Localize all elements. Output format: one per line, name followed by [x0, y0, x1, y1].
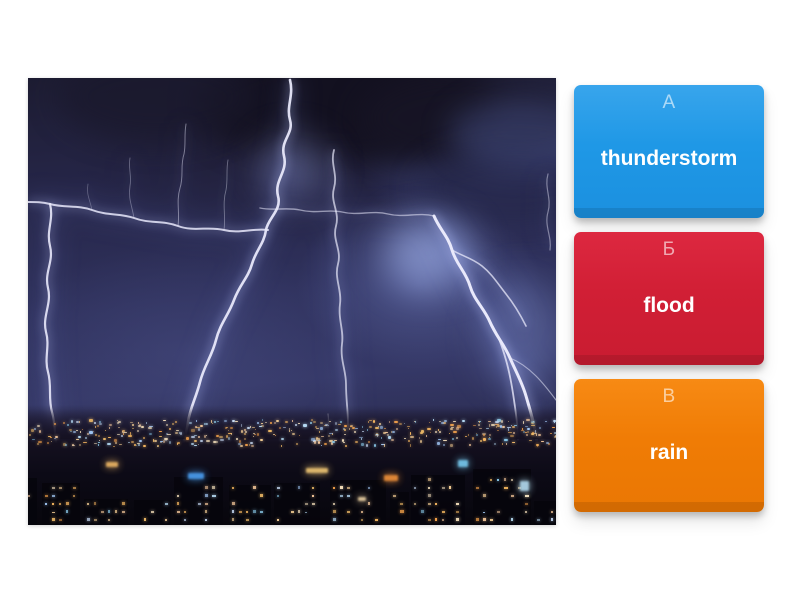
window-light: [483, 518, 486, 521]
city-light: [512, 442, 515, 443]
city-light: [117, 422, 119, 424]
city-light: [480, 440, 482, 442]
city-light: [253, 433, 255, 434]
city-light: [191, 429, 195, 431]
city-light: [143, 445, 146, 447]
window-light: [253, 486, 256, 489]
city-light: [37, 425, 41, 427]
window-light: [122, 511, 125, 513]
window-light: [497, 511, 500, 513]
city-light: [73, 431, 76, 433]
building-silhouette: [28, 478, 37, 525]
window-light: [305, 503, 308, 505]
city-light: [555, 435, 556, 437]
city-light: [143, 437, 145, 439]
city-light: [205, 423, 208, 424]
window-light: [291, 511, 294, 513]
city-light: [541, 441, 544, 443]
city-light: [538, 434, 542, 436]
city-light: [332, 441, 335, 444]
city-light: [415, 421, 416, 423]
city-light: [80, 431, 81, 433]
city-light: [123, 432, 127, 433]
city-light: [67, 424, 69, 426]
city-light: [367, 429, 369, 431]
building-silhouette: [534, 501, 556, 525]
city-light: [354, 431, 356, 433]
answer-option-b[interactable]: Б flood: [574, 232, 764, 365]
window-light: [52, 495, 55, 497]
city-light: [531, 421, 535, 423]
city-light: [410, 436, 414, 438]
city-light: [163, 440, 165, 443]
city-light: [554, 432, 556, 434]
city-sign-light: [188, 473, 204, 479]
answer-option-a[interactable]: А thunderstorm: [574, 85, 764, 218]
city-light: [537, 444, 538, 446]
city-light: [240, 445, 243, 447]
city-light: [247, 427, 251, 429]
window-light: [333, 503, 335, 505]
city-light: [510, 435, 514, 436]
city-light: [231, 433, 232, 435]
city-light: [325, 424, 328, 426]
city-light: [486, 428, 489, 429]
city-light: [494, 443, 496, 445]
window-light: [333, 510, 336, 513]
city-light: [531, 425, 535, 426]
city-light: [194, 445, 197, 446]
city-light: [121, 435, 123, 437]
window-light: [483, 512, 485, 514]
city-light: [472, 437, 474, 440]
city-light: [443, 440, 447, 441]
window-light: [421, 510, 424, 513]
window-light: [73, 487, 76, 489]
window-light: [277, 495, 279, 498]
city-light: [478, 424, 479, 426]
city-light: [115, 442, 117, 444]
city-light: [508, 421, 509, 422]
city-light: [441, 422, 444, 423]
city-light: [79, 421, 80, 424]
city-light: [119, 444, 122, 446]
city-light: [366, 444, 368, 446]
city-light: [239, 440, 241, 442]
city-light: [381, 437, 382, 439]
city-light: [94, 422, 96, 424]
city-light: [328, 435, 330, 437]
window-light: [312, 487, 314, 489]
city-light: [136, 445, 137, 446]
city-light: [274, 422, 276, 425]
city-light: [320, 422, 323, 424]
city-light: [296, 443, 298, 445]
city-light: [251, 445, 254, 447]
city-light: [388, 436, 391, 439]
city-light: [164, 438, 168, 441]
city-light: [128, 442, 130, 443]
city-light: [224, 420, 227, 423]
city-light: [198, 428, 200, 431]
city-light: [426, 435, 427, 437]
city-light: [429, 422, 431, 424]
city-light: [259, 426, 262, 427]
window-light: [428, 494, 431, 497]
window-light: [298, 510, 300, 513]
city-light: [252, 427, 255, 428]
window-light: [52, 487, 55, 489]
city-light: [452, 438, 454, 440]
city-light: [469, 444, 471, 446]
window-light: [525, 495, 529, 497]
city-light: [139, 440, 143, 442]
answer-letter-c: В: [662, 386, 675, 408]
city-light: [255, 429, 256, 430]
window-light: [151, 511, 154, 513]
city-light: [450, 424, 454, 426]
city-light: [427, 428, 430, 430]
city-light: [107, 443, 110, 445]
window-light: [305, 512, 307, 514]
window-light: [28, 495, 30, 497]
window-light: [551, 511, 553, 513]
city-light: [241, 430, 243, 432]
city-light: [303, 424, 307, 427]
city-light: [488, 421, 491, 422]
city-light: [257, 433, 259, 436]
city-light: [292, 433, 295, 435]
city-light: [438, 439, 442, 440]
window-light: [205, 519, 207, 522]
city-light: [526, 419, 530, 421]
window-light: [94, 519, 97, 522]
city-light: [71, 420, 73, 422]
city-light: [535, 430, 537, 432]
building-silhouette: [473, 469, 531, 525]
city-light: [108, 437, 111, 438]
window-light: [52, 503, 54, 505]
city-light: [525, 426, 528, 428]
window-light: [177, 495, 179, 497]
window-light: [456, 511, 459, 513]
city-light: [369, 420, 373, 422]
window-light: [73, 495, 75, 498]
city-light: [430, 432, 431, 434]
city-light: [408, 428, 409, 429]
city-light: [321, 445, 322, 447]
city-light: [506, 443, 507, 444]
city-light: [169, 428, 171, 430]
window-light: [184, 519, 186, 521]
city-light: [328, 425, 329, 426]
answer-option-c[interactable]: В rain: [574, 379, 764, 512]
quiz-stage: А thunderstorm Б flood В rain: [0, 0, 800, 600]
city-light: [439, 431, 440, 433]
city-light: [198, 436, 200, 438]
city-light: [130, 432, 131, 434]
window-light: [511, 495, 514, 497]
city-light: [85, 437, 87, 439]
city-light: [132, 428, 134, 429]
city-light: [54, 438, 56, 439]
window-light: [347, 487, 350, 489]
city-light: [236, 438, 238, 440]
window-light: [177, 511, 180, 513]
city-light: [97, 425, 99, 427]
city-light: [63, 422, 65, 424]
window-light: [122, 502, 125, 505]
city-light: [69, 429, 73, 431]
city-light: [335, 429, 339, 431]
city-light: [500, 425, 503, 427]
city-light: [488, 438, 491, 440]
city-light: [489, 434, 491, 436]
city-light: [526, 434, 528, 436]
city-light: [329, 421, 332, 423]
city-light: [228, 430, 230, 432]
city-light: [191, 436, 195, 438]
window-light: [165, 519, 167, 521]
city-sign-light: [106, 462, 118, 467]
city-light: [483, 438, 486, 440]
city-light: [408, 440, 409, 442]
city-light: [213, 441, 217, 443]
city-light: [527, 428, 530, 430]
window-light: [101, 511, 104, 513]
city-light: [419, 437, 420, 438]
city-light: [166, 424, 168, 426]
building-silhouette: [174, 477, 223, 525]
city-light: [324, 443, 328, 445]
city-light: [244, 438, 246, 440]
window-light: [52, 512, 55, 514]
city-light: [98, 442, 100, 443]
window-light: [490, 519, 493, 521]
window-light: [115, 510, 117, 513]
city-light: [79, 444, 81, 446]
city-light: [407, 426, 410, 427]
city-light: [176, 430, 179, 431]
city-light: [399, 423, 402, 425]
window-light: [511, 479, 513, 482]
city-light: [244, 429, 246, 430]
city-light: [489, 437, 490, 438]
window-light: [511, 518, 513, 521]
city-light: [298, 423, 300, 424]
city-light: [368, 441, 370, 443]
window-light: [525, 503, 528, 505]
city-light: [380, 426, 383, 428]
city-light: [420, 440, 422, 442]
city-light: [211, 420, 212, 422]
window-light: [87, 503, 89, 505]
city-light: [117, 434, 120, 435]
city-light: [95, 434, 97, 436]
city-light: [154, 440, 157, 442]
city-light: [87, 433, 89, 435]
city-light: [93, 431, 94, 432]
window-light: [442, 511, 445, 513]
city-light: [39, 430, 41, 432]
city-light: [344, 425, 347, 428]
answer-letter-a: А: [662, 92, 675, 114]
city-light: [292, 420, 294, 422]
city-light: [299, 435, 300, 436]
city-light: [489, 424, 491, 427]
city-light: [31, 429, 35, 432]
window-light: [205, 503, 208, 505]
window-light: [165, 503, 168, 505]
city-light: [76, 430, 78, 432]
window-light: [260, 511, 263, 513]
city-light: [32, 439, 35, 441]
answer-options-list: А thunderstorm Б flood В rain: [574, 85, 764, 512]
city-light: [444, 420, 447, 422]
city-light: [310, 422, 312, 424]
city-light: [396, 428, 398, 430]
window-light: [361, 511, 363, 513]
city-light: [109, 427, 110, 429]
window-light: [246, 511, 248, 513]
city-light: [283, 427, 286, 428]
window-light: [253, 510, 256, 513]
window-light: [442, 519, 444, 521]
window-light: [108, 510, 110, 513]
city-light: [321, 436, 324, 437]
city-light: [349, 428, 350, 430]
window-light: [239, 511, 242, 514]
window-light: [177, 502, 179, 505]
window-light: [525, 511, 527, 513]
city-light: [320, 427, 323, 429]
city-light: [525, 432, 527, 433]
city-light: [359, 437, 363, 438]
city-light: [362, 426, 363, 428]
city-light: [95, 426, 96, 428]
window-light: [414, 487, 416, 489]
window-light: [435, 503, 437, 505]
city-light: [453, 431, 457, 433]
window-light: [45, 503, 47, 505]
city-light: [343, 442, 345, 443]
city-sign-light: [458, 460, 468, 467]
city-light: [338, 424, 342, 425]
city-lights: [28, 405, 556, 525]
city-light: [99, 423, 101, 425]
city-light: [257, 422, 259, 424]
window-light: [400, 510, 404, 513]
city-light: [113, 446, 115, 447]
city-light: [311, 438, 315, 441]
window-light: [87, 518, 90, 521]
city-light: [344, 434, 346, 436]
city-light: [433, 419, 434, 421]
city-light: [456, 427, 459, 429]
window-light: [361, 519, 363, 521]
window-light: [476, 487, 479, 489]
city-light: [501, 420, 503, 423]
city-light: [361, 438, 363, 440]
city-light: [361, 443, 365, 446]
window-light: [66, 510, 68, 513]
city-light: [394, 421, 397, 423]
city-light: [368, 421, 369, 423]
city-light: [384, 444, 386, 447]
city-light: [103, 438, 106, 439]
city-light: [512, 426, 515, 428]
city-light: [276, 420, 280, 422]
city-light: [392, 431, 395, 433]
window-light: [333, 518, 336, 521]
window-light: [108, 519, 110, 522]
city-light: [495, 421, 499, 423]
city-light: [373, 420, 374, 422]
window-light: [490, 479, 492, 481]
city-light: [443, 444, 445, 446]
city-light: [228, 437, 231, 440]
window-light: [232, 502, 235, 505]
window-light: [375, 519, 378, 521]
city-light: [319, 431, 320, 433]
city-light: [214, 421, 216, 422]
city-light: [552, 427, 555, 428]
city-sign-light: [358, 497, 366, 501]
window-light: [428, 478, 431, 481]
window-light: [232, 487, 234, 489]
city-light: [50, 437, 51, 439]
city-light: [476, 434, 479, 436]
window-light: [312, 503, 315, 506]
city-light: [195, 426, 198, 428]
city-light: [76, 439, 79, 440]
city-light: [157, 446, 158, 447]
city-light: [175, 432, 179, 434]
window-light: [205, 494, 208, 497]
city-sign-light: [306, 468, 328, 473]
city-light: [314, 441, 316, 444]
city-light: [29, 434, 31, 436]
city-light: [479, 428, 482, 429]
city-light: [245, 444, 248, 446]
city-light: [265, 422, 267, 424]
answer-label-b: flood: [574, 261, 764, 365]
window-light: [393, 495, 396, 497]
city-light: [437, 442, 440, 444]
question-image: [28, 78, 556, 525]
city-light: [523, 421, 524, 423]
city-light: [270, 422, 271, 424]
city-light: [172, 423, 174, 426]
city-light: [355, 428, 359, 429]
window-light: [312, 495, 314, 497]
city-light: [545, 421, 547, 422]
building-silhouette: [229, 485, 271, 525]
city-light: [159, 431, 162, 432]
city-light: [194, 440, 197, 442]
window-light: [246, 519, 249, 521]
city-light: [529, 440, 532, 441]
window-light: [205, 486, 208, 489]
city-light: [483, 434, 485, 435]
city-light: [138, 444, 140, 447]
city-light: [502, 443, 504, 445]
city-light: [468, 434, 469, 435]
city-light: [148, 427, 151, 429]
city-light: [268, 430, 272, 432]
city-light: [374, 444, 376, 447]
city-light: [230, 427, 233, 429]
